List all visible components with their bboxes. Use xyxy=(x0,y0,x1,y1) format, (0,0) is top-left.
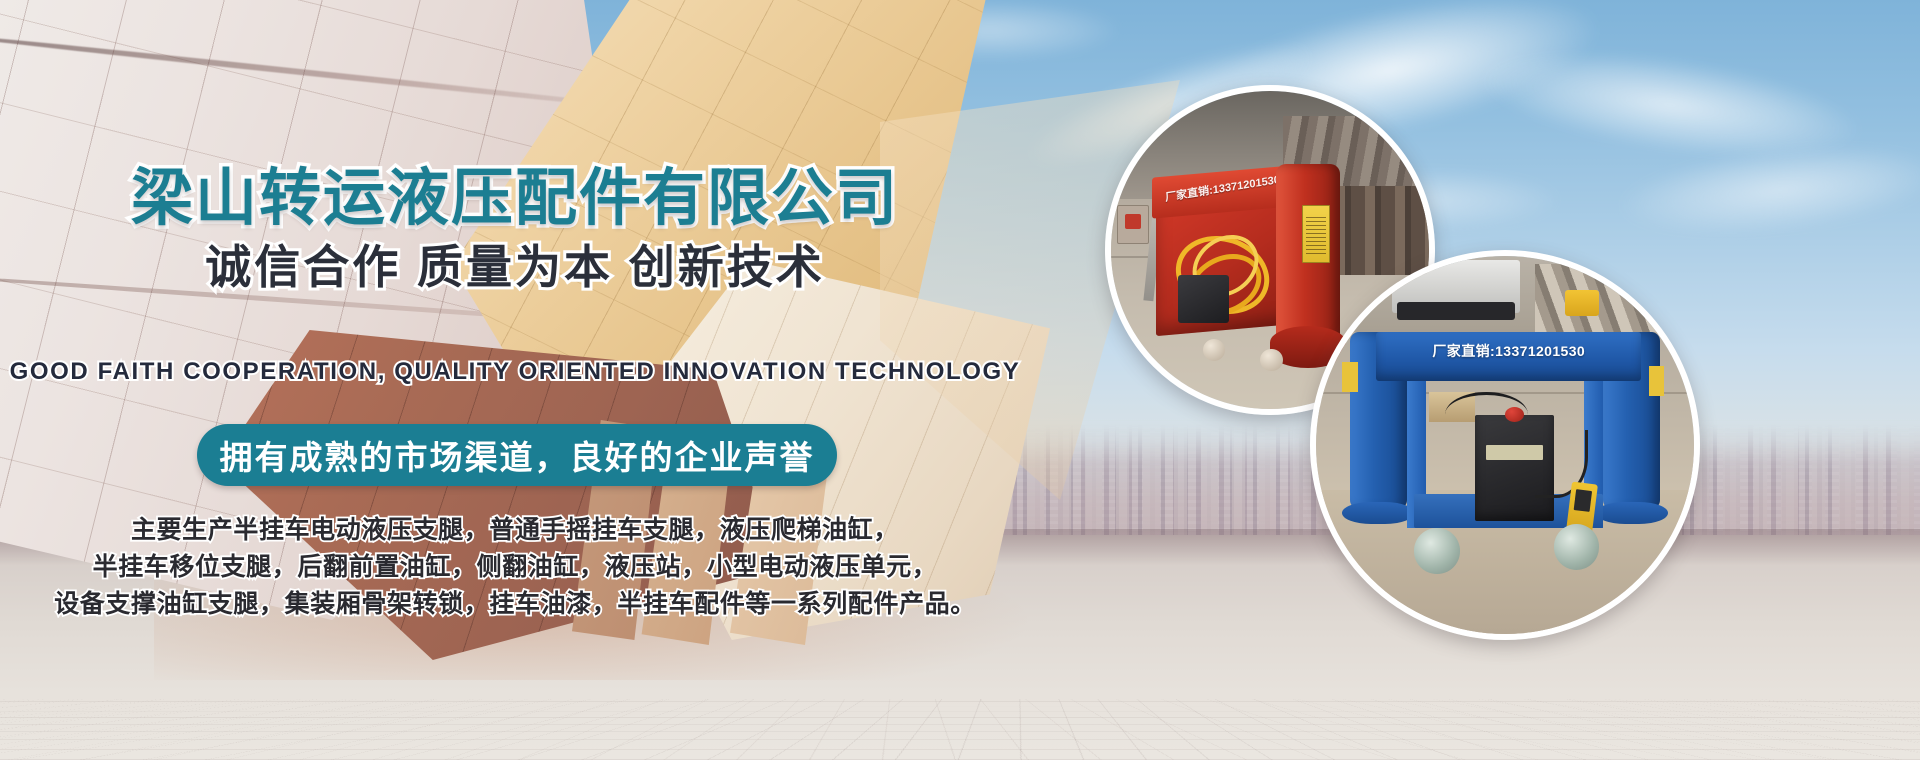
description-line-2: 半挂车移位支腿，后翻前置油缸，侧翻油缸，液压站，小型电动液压单元， xyxy=(0,549,1030,586)
caster-wheel xyxy=(1260,349,1282,371)
product-description: 主要生产半挂车电动液压支腿，普通手摇挂车支腿，液压爬梯油缸， 半挂车移位支腿，后… xyxy=(0,512,1030,623)
highlight-pill-text: 拥有成熟的市场渠道，良好的企业声誉 xyxy=(220,431,815,479)
promotional-banner: 梁山转运液压配件有限公司 诚信合作 质量为本 创新技术 GOOD FAITH C… xyxy=(0,0,1920,760)
description-line-1: 主要生产半挂车电动液压支腿，普通手摇挂车支腿，液压爬梯油缸， xyxy=(0,512,1030,549)
cylinder-foot-pad-right xyxy=(1596,502,1668,525)
caster-wheel xyxy=(1414,528,1459,573)
description-line-3: 设备支撑油缸支腿，集装厢骨架转锁，挂车油漆，半挂车配件等一系列配件产品。 xyxy=(0,586,1030,623)
yard-debris xyxy=(1535,264,1694,332)
product-photo-blue-machine: 厂家直销:13371201530 xyxy=(1310,250,1700,640)
blue-machine-phone-label: 厂家直销:13371201530 xyxy=(1376,341,1641,361)
yellow-marker-tab xyxy=(1342,362,1357,392)
paint-bucket xyxy=(1117,205,1149,243)
slogan-chinese: 诚信合作 质量为本 创新技术 xyxy=(0,244,1030,290)
slogan-english: GOOD FAITH COOPERATION, QUALITY ORIENTED… xyxy=(0,360,1030,384)
yellow-drum xyxy=(1565,290,1599,316)
company-title: 梁山转运液压配件有限公司 xyxy=(0,168,1030,230)
hydraulic-pump-unit xyxy=(1178,275,1229,323)
blue-machine-scene: 厂家直销:13371201530 xyxy=(1316,256,1694,634)
warning-label-sticker xyxy=(1302,205,1331,262)
caster-wheel xyxy=(1554,524,1599,569)
cylinder-foot-pad-left xyxy=(1342,502,1414,525)
utility-vehicle xyxy=(1392,260,1521,313)
highlight-pill: 拥有成熟的市场渠道，良好的企业声誉 xyxy=(197,424,837,486)
yellow-marker-tab xyxy=(1649,366,1664,396)
banner-text-block: 梁山转运液压配件有限公司 诚信合作 质量为本 创新技术 GOOD FAITH C… xyxy=(0,0,1060,760)
